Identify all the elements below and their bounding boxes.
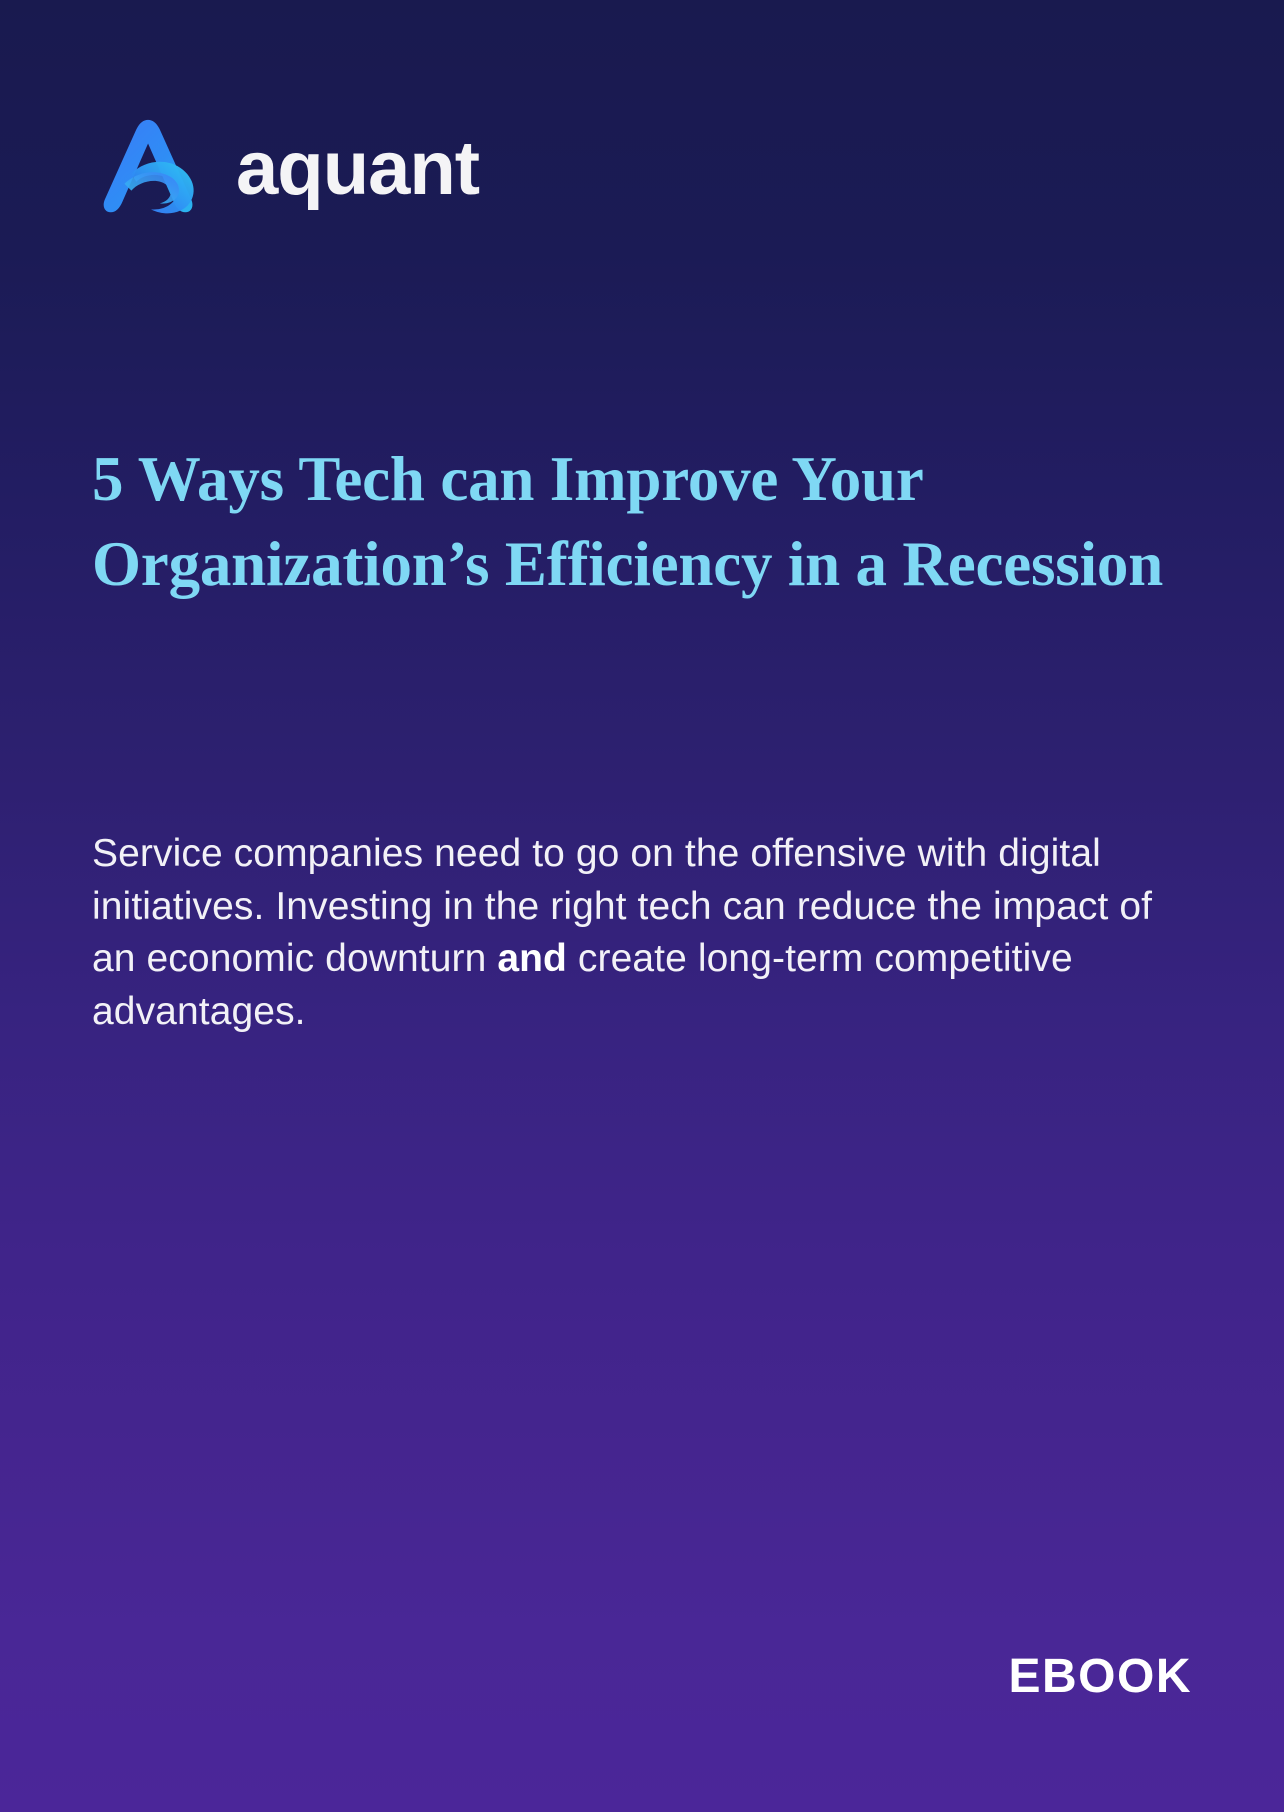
description-emphasis: and (497, 937, 567, 980)
svg-text:aquant: aquant (236, 128, 480, 211)
aquant-wordmark: aquant (236, 128, 536, 214)
page-title: 5 Ways Tech can Improve Your Organizatio… (92, 437, 1182, 607)
aquant-a-mark-icon (92, 115, 210, 227)
brand-logo: aquant (92, 115, 536, 227)
ebook-cover: aquant 5 Ways Tech can Improve Your Orga… (0, 0, 1284, 1812)
cover-description: Service companies need to go on the offe… (92, 828, 1182, 1039)
content-type-badge: EBOOK (1008, 1649, 1192, 1704)
